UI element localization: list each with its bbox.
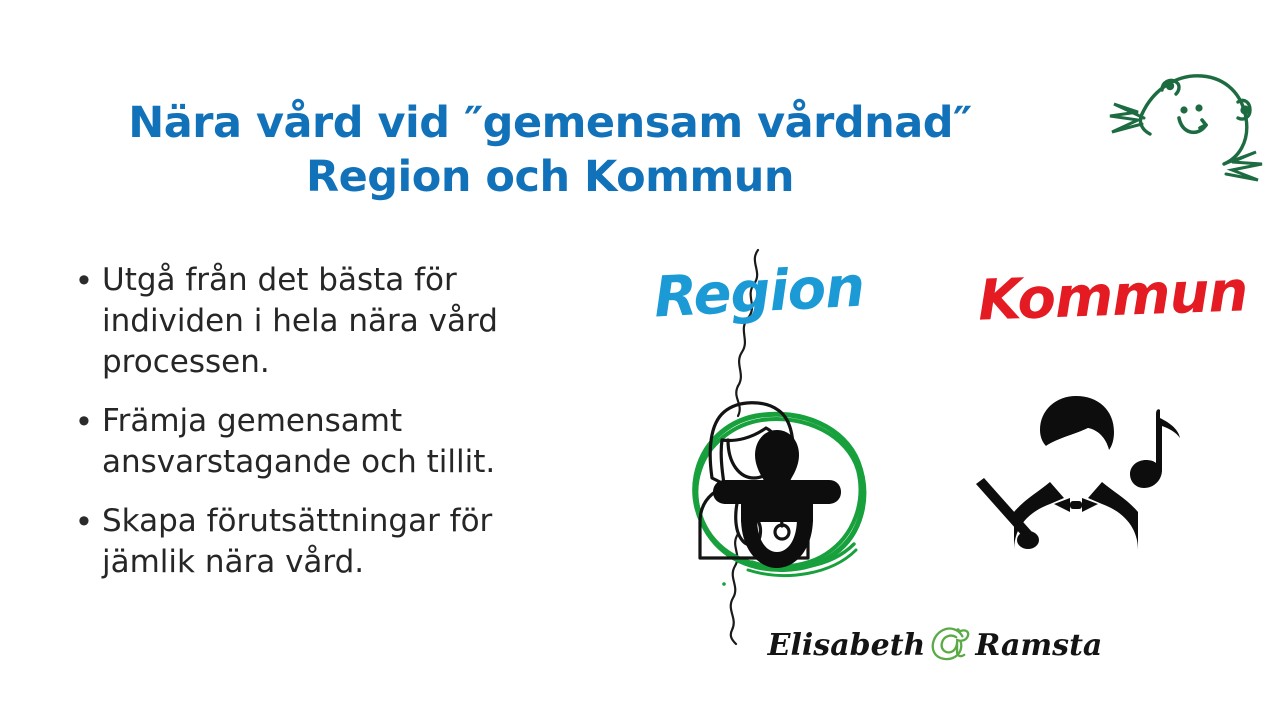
bullet-text: Utgå från det bästa för individen i hela… bbox=[102, 260, 528, 383]
page-title-line-1: Nära vård vid ″gemensam vårdnad″ bbox=[0, 96, 1100, 150]
page-title-line-2: Region och Kommun bbox=[0, 150, 1100, 204]
pacifier-icon bbox=[713, 430, 841, 568]
signature-first-name: Elisabeth bbox=[768, 628, 926, 663]
conductor-icon bbox=[976, 396, 1180, 570]
list-item: • Utgå från det bästa för individen i he… bbox=[78, 260, 528, 383]
bullet-marker: • bbox=[78, 501, 102, 542]
list-item: • Främja gemensamt ansvarstagande och ti… bbox=[78, 401, 528, 483]
bullet-marker: • bbox=[78, 260, 102, 301]
illustration-label-region: Region bbox=[652, 255, 865, 331]
bullet-text: Skapa förutsättningar för jämlik nära vå… bbox=[102, 501, 528, 583]
slide-canvas: Nära vård vid ″gemensam vårdnad″ Region … bbox=[0, 0, 1280, 720]
bullet-text: Främja gemensamt ansvarstagande och till… bbox=[102, 401, 528, 483]
illustration-label-kommun: Kommun bbox=[977, 259, 1248, 333]
signature: Elisabeth Ramsta bbox=[780, 620, 1090, 670]
signature-last-name: Ramsta bbox=[975, 628, 1102, 663]
bullet-list: • Utgå från det bästa för individen i he… bbox=[78, 260, 528, 601]
illustration-group: Region Kommun bbox=[630, 238, 1280, 683]
frog-doodle-icon bbox=[1098, 38, 1280, 198]
bullet-marker: • bbox=[78, 401, 102, 442]
signature-at-icon bbox=[927, 622, 973, 668]
page-title: Nära vård vid ″gemensam vårdnad″ Region … bbox=[0, 96, 1100, 204]
list-item: • Skapa förutsättningar för jämlik nära … bbox=[78, 501, 528, 583]
